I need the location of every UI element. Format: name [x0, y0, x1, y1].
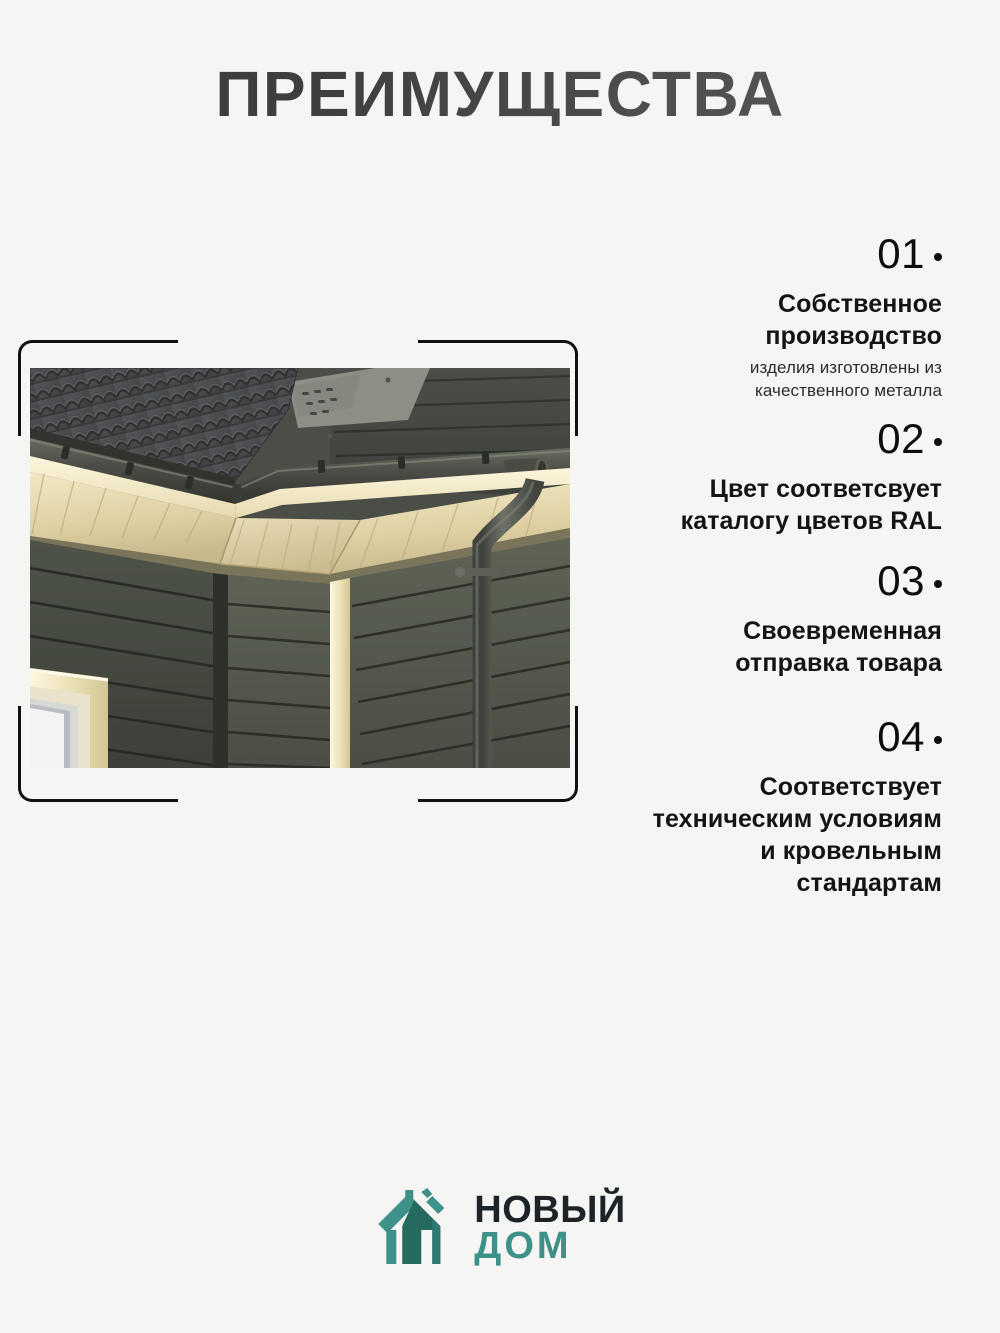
advantage-number-02: 02: [877, 417, 925, 461]
advantage-number-row-04: 04: [522, 715, 942, 759]
advantage-number-row-02: 02: [522, 417, 942, 461]
advantage-number-03: 03: [877, 559, 925, 603]
advantage-item-01: 01 Собственное производство изделия изго…: [522, 232, 942, 403]
page-title: ПРЕИМУЩЕСТВА: [0, 62, 1000, 126]
advantage-title-line: Цвет соответсвует: [522, 473, 942, 505]
advantage-item-02: 02 Цвет соответсвует каталогу цветов RAL: [522, 417, 942, 537]
bullet-dot-icon: [934, 736, 942, 744]
advantage-title-line: Собственное: [522, 288, 942, 320]
advantage-title-line: техническим условиям: [522, 803, 942, 835]
logo-line-2: ДОМ: [474, 1229, 625, 1265]
bullet-dot-icon: [934, 438, 942, 446]
advantage-title-04: Соответствует техническим условиям и кро…: [522, 771, 942, 899]
bullet-dot-icon: [934, 253, 942, 261]
logo-line-1: НОВЫЙ: [474, 1193, 625, 1229]
advantage-title-01: Собственное производство: [522, 288, 942, 352]
advantage-title-line: Соответствует: [522, 771, 942, 803]
advantage-item-03: 03 Своевременная отправка товара: [522, 559, 942, 679]
brand-logo: НОВЫЙ ДОМ: [374, 1186, 625, 1272]
advantage-title-line: и кровельным: [522, 835, 942, 867]
logo-wordmark: НОВЫЙ ДОМ: [474, 1193, 625, 1264]
advantage-title-line: стандартам: [522, 867, 942, 899]
advantage-number-04: 04: [877, 715, 925, 759]
advantage-number-row-03: 03: [522, 559, 942, 603]
advantage-title-02: Цвет соответсвует каталогу цветов RAL: [522, 473, 942, 537]
bullet-dot-icon: [934, 580, 942, 588]
advantage-number-row-01: 01: [522, 232, 942, 276]
advantage-title-line: каталогу цветов RAL: [522, 505, 942, 537]
advantage-title-line: Своевременная: [522, 615, 942, 647]
house-roof-photo: [30, 368, 570, 768]
advantage-subtitle-line: качественного металла: [522, 380, 942, 403]
house-icon: [374, 1186, 460, 1272]
advantage-number-01: 01: [877, 232, 925, 276]
advantage-subtitle-line: изделия изготовлены из: [522, 357, 942, 380]
advantages-list: 01 Собственное производство изделия изго…: [522, 232, 942, 903]
photo-frame: [18, 340, 578, 802]
advantage-subtitle-01: изделия изготовлены из качественного мет…: [522, 357, 942, 403]
advantage-item-04: 04 Соответствует техническим условиям и …: [522, 715, 942, 899]
advantage-title-line: отправка товара: [522, 647, 942, 679]
advantage-title-line: производство: [522, 320, 942, 352]
advantage-title-03: Своевременная отправка товара: [522, 615, 942, 679]
